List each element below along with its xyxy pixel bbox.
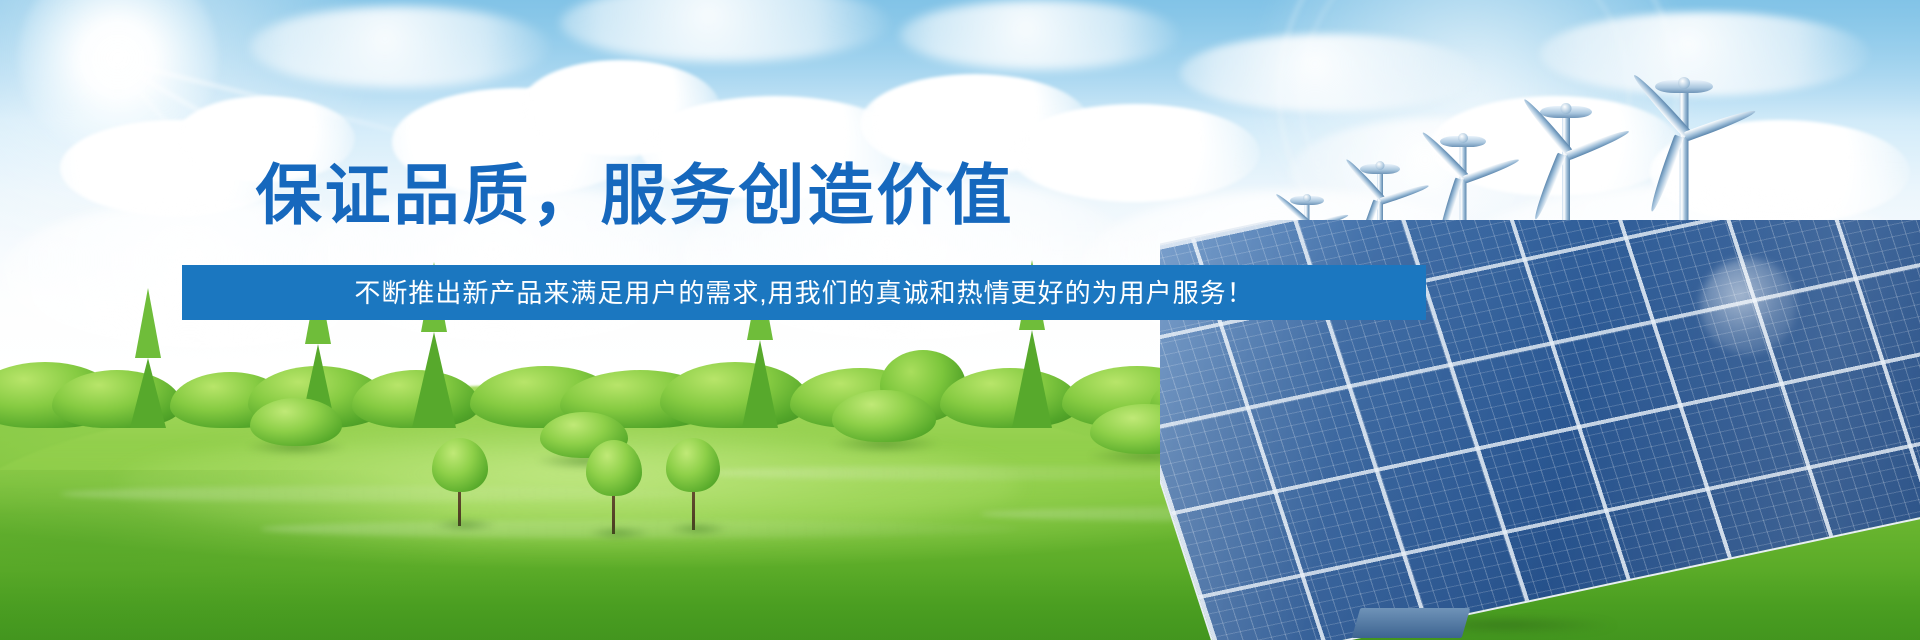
cloud-puff bbox=[250, 6, 550, 88]
subtitle-banner-bar: 不断推出新产品来满足用户的需求,用我们的真诚和热情更好的为用户服务！ bbox=[182, 265, 1426, 320]
turbine-hub bbox=[1376, 161, 1385, 170]
turbine-hub bbox=[1303, 194, 1311, 202]
sapling-crown bbox=[586, 440, 642, 496]
turbine-blade bbox=[1531, 153, 1566, 221]
tree-shadow bbox=[668, 522, 728, 536]
solar-array-support bbox=[1352, 608, 1471, 638]
conifer-tree bbox=[1012, 330, 1052, 428]
subtitle-text: 不断推出新产品来满足用户的需求,用我们的真诚和热情更好的为用户服务！ bbox=[354, 280, 1253, 306]
cloud-puff bbox=[1180, 34, 1480, 112]
turbine-blade bbox=[1684, 107, 1757, 142]
page-title: 保证品质，服务创造价值 bbox=[0, 161, 1270, 230]
solar-panel-glare bbox=[1700, 258, 1796, 354]
conifer-tree bbox=[412, 332, 456, 428]
sapling-crown bbox=[432, 438, 488, 492]
tree-shadow bbox=[434, 518, 496, 532]
tree bbox=[660, 362, 810, 428]
turbine-hub bbox=[1458, 133, 1468, 143]
conifer-tree bbox=[742, 340, 778, 428]
foreground-bush bbox=[250, 398, 342, 446]
foreground-bush bbox=[832, 390, 936, 442]
cloud-puff bbox=[900, 0, 1180, 70]
turbine-hub bbox=[1561, 103, 1572, 114]
conifer-tree bbox=[130, 358, 166, 428]
turbine-blade bbox=[1647, 135, 1684, 214]
turbine-hub bbox=[1678, 77, 1690, 89]
tree-shadow bbox=[588, 526, 650, 540]
hero-banner: 保证品质，服务创造价值 不断推出新产品来满足用户的需求,用我们的真诚和热情更好的… bbox=[0, 0, 1920, 640]
sapling-crown bbox=[666, 438, 720, 492]
